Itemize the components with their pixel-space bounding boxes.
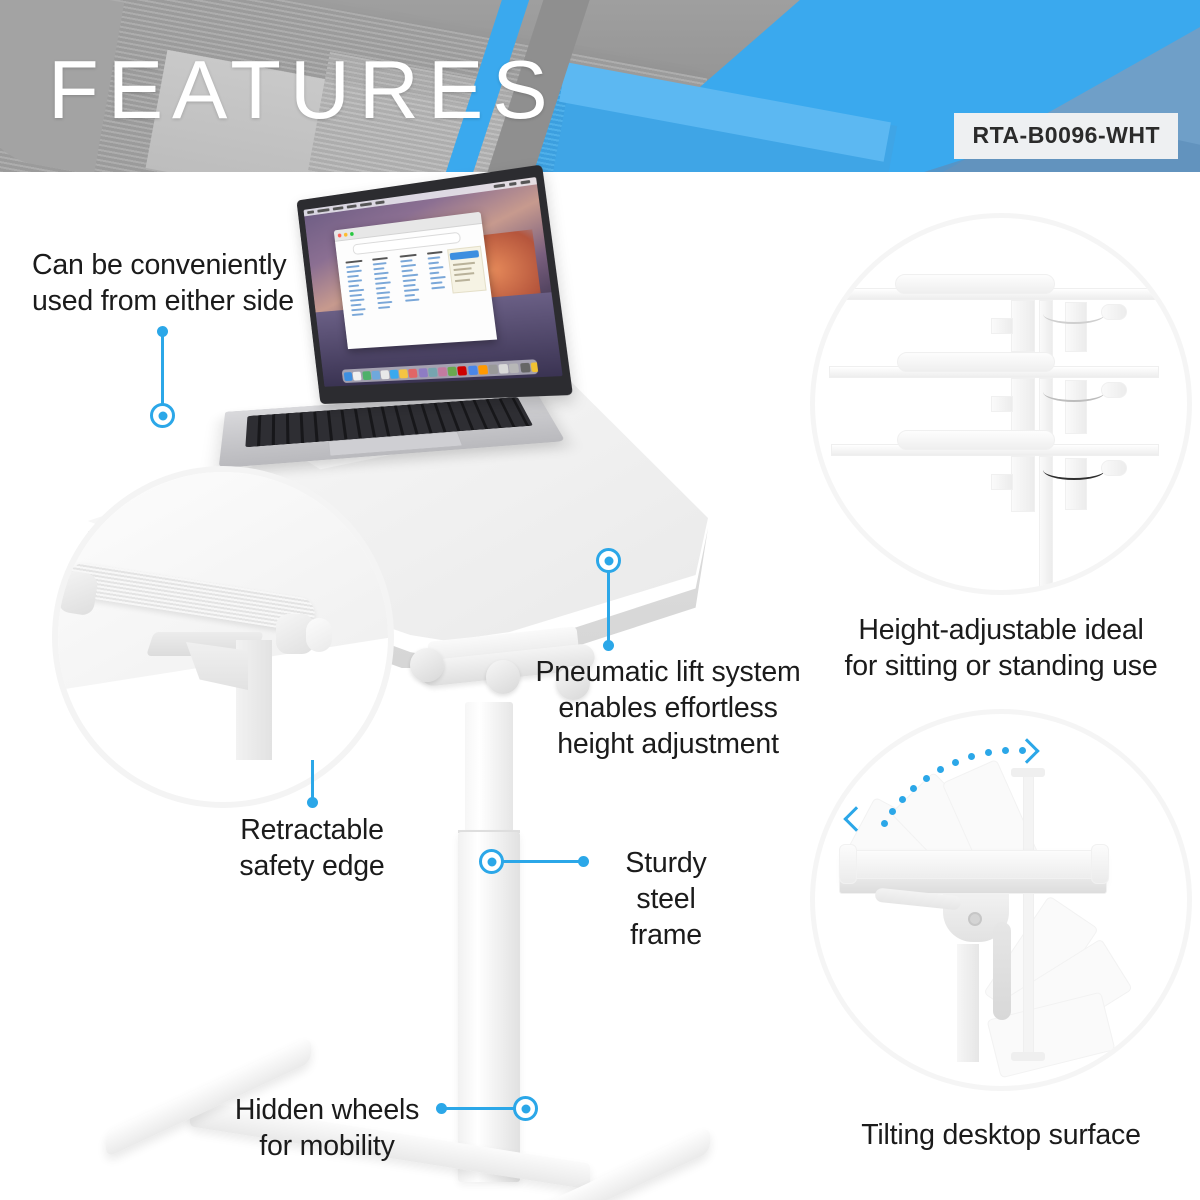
callout-either-side-line: [161, 331, 164, 409]
laptop-keyboard-base: [219, 390, 566, 468]
callout-pneumatic-dot: [603, 640, 614, 651]
hinge-knob-left: [410, 648, 444, 682]
callout-safety-edge-dot: [307, 797, 318, 808]
sku-badge: RTA-B0096-WHT: [954, 113, 1178, 159]
tilt-bracket-left: [839, 844, 857, 884]
tilt-arrow-head-right: [1014, 738, 1039, 763]
tilt-reference-post: [1023, 770, 1034, 1060]
tilt-pivot-bolt: [968, 912, 982, 926]
callout-hidden-wheels-line: [444, 1107, 518, 1110]
callout-pneumatic-line: [607, 572, 610, 644]
callout-steel-frame-dot: [578, 856, 589, 867]
header-banner: FEATURES RTA-B0096-WHT: [0, 0, 1200, 172]
callout-steel-frame-text: Sturdy steel frame: [592, 846, 740, 954]
callout-steel-frame-target[interactable]: [479, 849, 504, 874]
magnifier-safety-edge: [58, 472, 388, 802]
inset-tilting-desktop: [815, 714, 1187, 1086]
features-infographic: FEATURES RTA-B0096-WHT: [0, 0, 1200, 1200]
laptop-display: [303, 177, 562, 387]
inset-height-adjustable-caption: Height-adjustable ideal for sitting or s…: [818, 613, 1184, 685]
browser-sidebar-panel: [447, 246, 486, 294]
callout-hidden-wheels-target[interactable]: [513, 1096, 538, 1121]
page-title: FEATURES: [48, 48, 557, 131]
laptop: [225, 182, 575, 482]
macos-menubar: [303, 177, 536, 216]
safety-edge-pivot: [306, 618, 332, 652]
callout-steel-frame-line: [503, 860, 582, 863]
tilt-column: [957, 944, 979, 1062]
lift-column-lower: [458, 832, 520, 1182]
callout-either-side-text: Can be conveniently used from either sid…: [32, 248, 302, 320]
callout-hidden-wheels-text: Hidden wheels for mobility: [222, 1093, 432, 1165]
tilt-post-cap-top: [1011, 768, 1045, 777]
callout-either-side-target[interactable]: [150, 403, 175, 428]
callout-safety-edge-text: Retractable safety edge: [216, 813, 408, 885]
callout-pneumatic-target[interactable]: [596, 548, 621, 573]
tilt-bracket-right: [1091, 844, 1109, 884]
tilt-post-cap-bottom: [1011, 1052, 1045, 1061]
browser-window: [334, 212, 498, 349]
inset-height-adjustable: [815, 218, 1187, 590]
callout-safety-edge-line: [311, 760, 314, 800]
inset-tilting-desktop-caption: Tilting desktop surface: [818, 1118, 1184, 1154]
laptop-screen: [296, 164, 572, 404]
tilt-gas-strut: [993, 922, 1011, 1020]
browser-primary-button: [450, 250, 480, 260]
hinge-knob-mid: [486, 660, 520, 694]
callout-pneumatic-text: Pneumatic lift system enables effortless…: [529, 655, 807, 763]
